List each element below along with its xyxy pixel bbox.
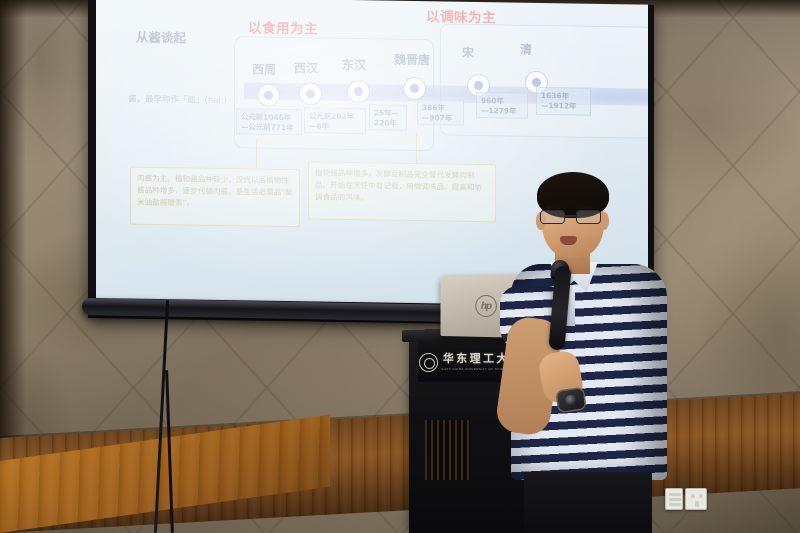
timeline-node-3: [404, 78, 425, 99]
date-box-2: 25年— 220年: [369, 104, 407, 131]
screenshot-root: 以食用为主 以调味为主 从酱谈起 酱，最早称作「醢」(hai ) 西周 西汉 东…: [0, 0, 800, 533]
date-box-5: 1636年 —1912年: [536, 87, 591, 116]
presenter-mouth: [560, 236, 577, 245]
slide-subtitle: 酱，最早称作「醢」(hai ): [128, 93, 227, 107]
callout-stem-1: [416, 133, 417, 163]
date-box-0: 公元前1046年 —公元前771年: [236, 108, 302, 135]
eyebrow-right: [576, 206, 592, 209]
era-label-0: 西周: [252, 60, 276, 77]
wristwatch-icon: [557, 388, 586, 411]
date-box-3: 386年 —907年: [417, 99, 464, 126]
slide-title: 从酱谈起: [136, 27, 186, 47]
callout-stem-0: [256, 139, 257, 169]
eyebrow-left: [545, 206, 561, 209]
timeline-node-0: [258, 85, 279, 106]
presenter-trousers: [524, 472, 652, 533]
presenter: [498, 168, 684, 533]
timeline-node-2: [348, 81, 369, 102]
era-label-3: 魏晋唐: [394, 51, 430, 69]
callout-box-0: 肉酱为主。植物酱品种较少，汉代以后植物性酱品种增多，逐步代替肉酱，是生活必需品“…: [130, 167, 300, 228]
era-label-5: 清: [520, 41, 532, 58]
lectern-vent-bottom: [425, 420, 471, 480]
timeline-node-1: [300, 83, 321, 104]
wall-socket-right[interactable]: [685, 488, 707, 510]
era-label-4: 宋: [462, 44, 474, 61]
callout-box-1: 植物酱品种增多，发酵豆制品完全替代发酵肉制品。开始在烹饪中有记载，用做调味品，提…: [308, 161, 496, 222]
era-label-1: 西汉: [294, 59, 318, 76]
date-box-1: 公元前202年 —8年: [304, 107, 366, 134]
eyeglasses-icon: [540, 210, 607, 225]
slide-header-eat: 以食用为主: [248, 16, 318, 37]
date-box-4: 960年 —1279年: [476, 92, 528, 119]
era-label-2: 东汉: [342, 56, 366, 73]
university-seal-icon: [419, 353, 438, 372]
hp-logo-icon: hp: [475, 295, 497, 317]
